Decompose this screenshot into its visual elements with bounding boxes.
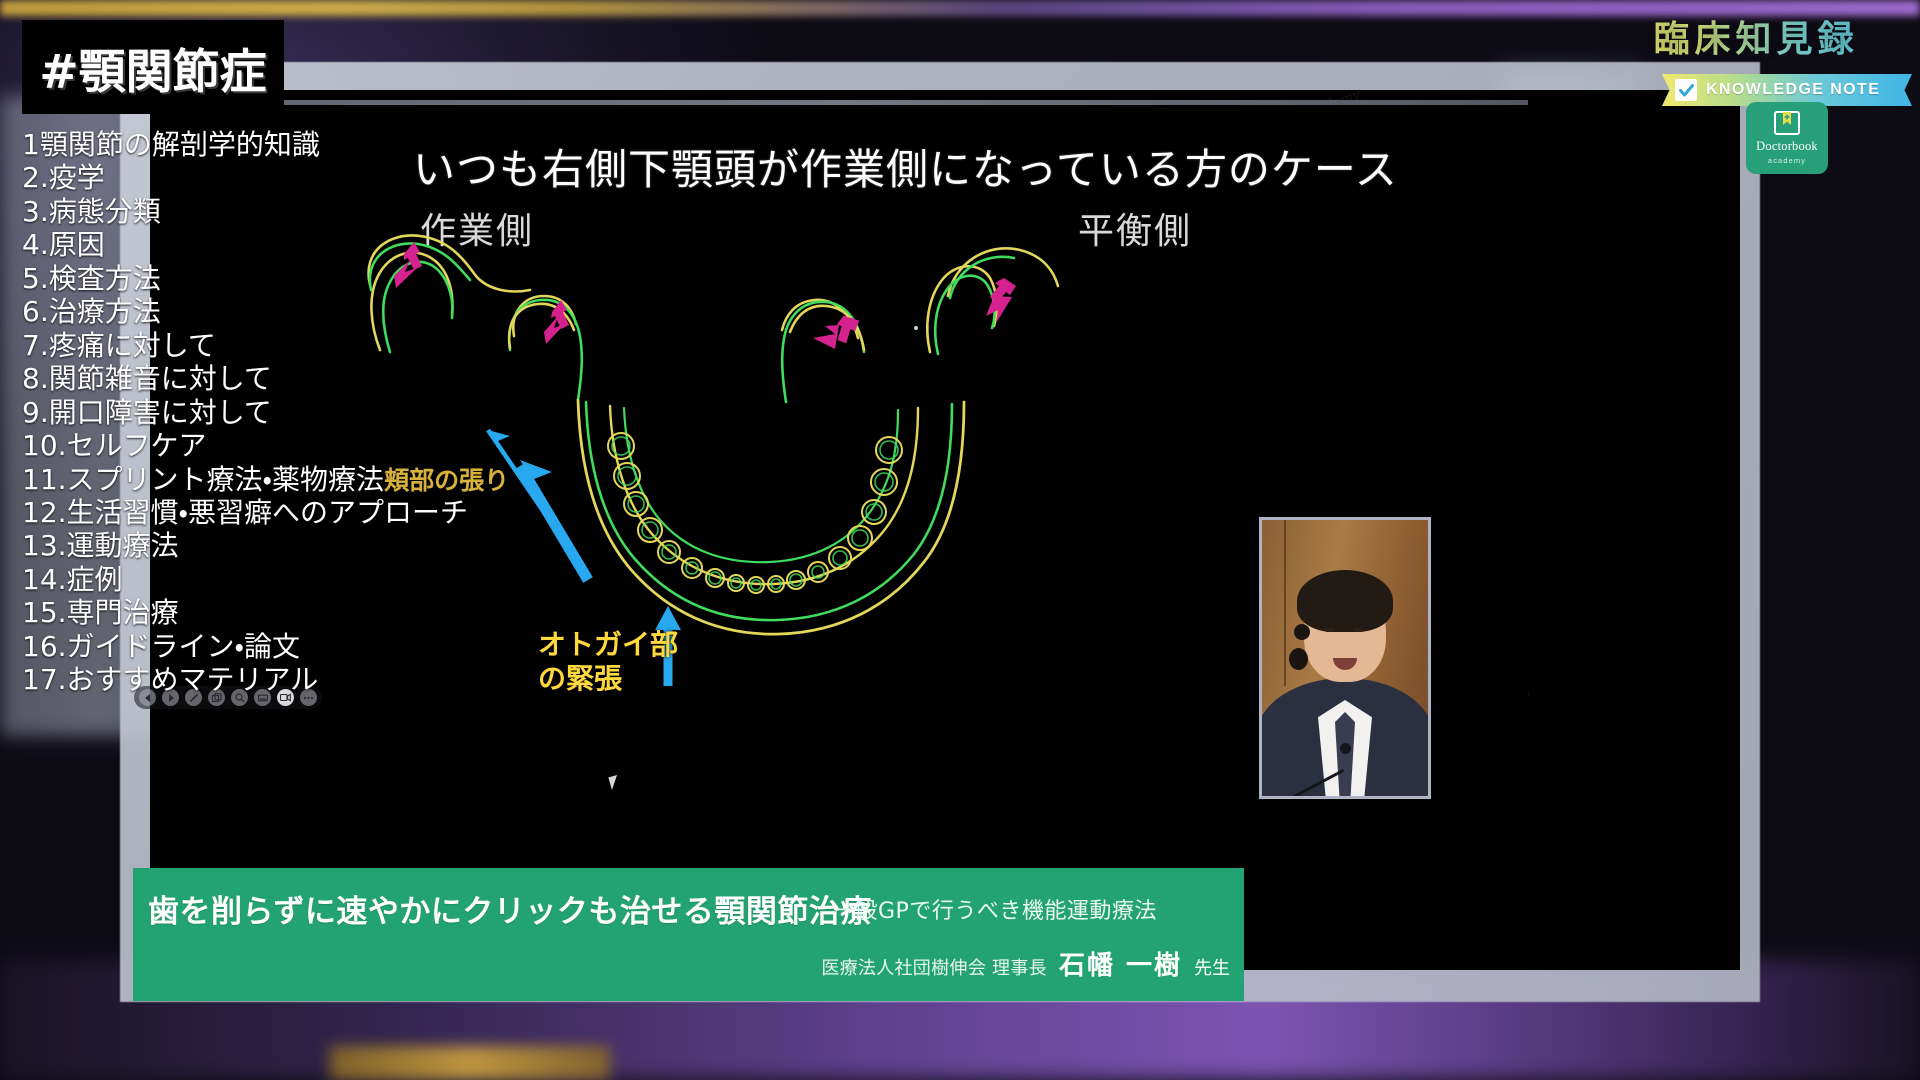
brand-title: 臨床知見録 <box>1606 10 1906 62</box>
screen-root: Doctorbook academy Doctorbook academy Do… <box>0 0 1920 1080</box>
background-orange-strip <box>330 1046 610 1080</box>
presenter-eye-right <box>1354 628 1363 632</box>
hashtag-badge: #顎関節症 <box>22 20 284 114</box>
microphone-capsule <box>1340 743 1351 754</box>
check-icon <box>1675 79 1697 101</box>
agenda-item-label: 12.生活習慣・悪習癖へのアプローチ <box>22 496 468 529</box>
list-item: 5.検査方法 <box>22 262 542 295</box>
agenda-item-label: 4.原因 <box>22 228 105 261</box>
agenda-item-label: 15.専門治療 <box>22 596 179 629</box>
annotation-chin-tension: オトガイ部 の緊張 <box>538 628 678 696</box>
credit-honorific: 先生 <box>1194 954 1230 980</box>
presenter-hair <box>1297 570 1393 632</box>
list-item: 6.治療方法 <box>22 295 542 328</box>
agenda-list: 1顎関節の解剖学的知識 2.疫学 3.病態分類 4.原因 5.検査方法 6.治療… <box>22 128 542 697</box>
credit-organization: 医療法人社団樹伸会 理事長 <box>821 954 1047 980</box>
agenda-item-label: 8.関節雑音に対して <box>22 362 272 395</box>
list-item: 15.専門治療 <box>22 596 542 629</box>
doctorbook-logo-name: Doctorbook <box>1756 139 1818 154</box>
list-item: 14.症例 <box>22 563 542 596</box>
lower-third-banner: 歯を削らずに速やかにクリックも治せる顎関節治療 一般GPで行うべき機能運動療法 … <box>133 868 1244 1001</box>
agenda-item-label: 7.疼痛に対して <box>22 329 216 362</box>
agenda-item-label: 14.症例 <box>22 563 123 596</box>
list-item: 17.おすすめマテリアル <box>22 663 542 696</box>
list-item: 1顎関節の解剖学的知識 <box>22 128 542 161</box>
list-item: 4.原因 <box>22 228 542 261</box>
list-item: 3.病態分類 <box>22 195 542 228</box>
agenda-item-label: 17.おすすめマテリアル <box>22 663 318 696</box>
headset-earpiece-lower <box>1289 648 1308 670</box>
book-plus-icon <box>1772 111 1802 137</box>
presenter-webcam[interactable] <box>1259 517 1431 799</box>
agenda-item-label: 6.治療方法 <box>22 295 161 328</box>
annotation-cheek-tension: 頬部の張り <box>384 466 509 495</box>
banner-subtitle: 一般GPで行うべき機能運動療法 <box>833 893 1157 925</box>
knowledge-note-label: KNOWLEDGE NOTE <box>1706 81 1880 99</box>
agenda-item-label: 10.セルフケア <box>22 429 207 462</box>
list-item: 7.疼痛に対して <box>22 329 542 362</box>
agenda-item-label: 3.病態分類 <box>22 195 161 228</box>
wall-seam <box>1284 520 1286 686</box>
headset-earpiece-upper <box>1294 624 1310 640</box>
agenda-item-label: 2.疫学 <box>22 161 105 194</box>
list-item: 10.セルフケア <box>22 429 542 462</box>
list-item: 13.運動療法 <box>22 529 542 562</box>
hashtag-label: #顎関節症 <box>39 33 266 102</box>
presenter-eye-left <box>1325 628 1334 632</box>
banner-credit: 医療法人社団樹伸会 理事長 石幡 一樹 先生 <box>821 945 1230 982</box>
list-item: 12.生活習慣・悪習癖へのアプローチ <box>22 496 542 529</box>
list-item: 2.疫学 <box>22 161 542 194</box>
list-item: 9.開口障害に対して <box>22 396 542 429</box>
agenda-item-label: 5.検査方法 <box>22 262 161 295</box>
banner-title: 歯を削らずに速やかにクリックも治せる顎関節治療 <box>148 886 872 931</box>
agenda-item-label: 13.運動療法 <box>22 529 179 562</box>
agenda-item-label: 1顎関節の解剖学的知識 <box>22 128 320 161</box>
agenda-item-label: 11.スプリント療法・薬物療法 <box>22 463 384 496</box>
brand-block: 臨床知見録 <box>1606 10 1906 62</box>
list-item: 11.スプリント療法・薬物療法頬部の張り <box>22 463 542 496</box>
list-item: 16.ガイドライン・論文 <box>22 630 542 663</box>
doctorbook-logo: Doctorbook academy <box>1746 102 1828 174</box>
list-item: 8.関節雑音に対して <box>22 362 542 395</box>
agenda-item-label: 16.ガイドライン・論文 <box>22 630 300 663</box>
doctorbook-logo-sub: academy <box>1768 156 1806 165</box>
agenda-item-label: 9.開口障害に対して <box>22 396 272 429</box>
credit-presenter-name: 石幡 一樹 <box>1059 945 1182 982</box>
